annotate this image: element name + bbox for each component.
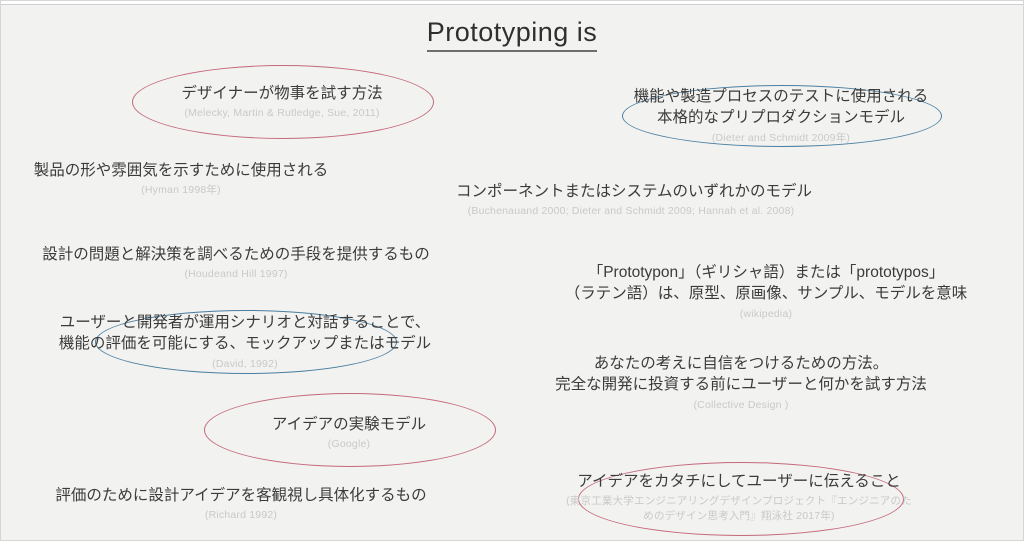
text-line: 本格的なプリプロダクションモデル [611,107,951,128]
text-block-design-problem-means: 設計の問題と解決策を調べるための手段を提供するもの (Houdeand Hill… [41,244,431,282]
text-line: アイデアをカタチにしてユーザーに伝えること [563,471,915,492]
text-block-prototypon-etymology: 「Prototypon」（ギリシャ語）または「prototypos」 （ラテン語… [541,262,991,321]
text-line: 製品の形や雰囲気を示すために使用される [26,160,336,181]
text-line: アイデアの実験モデル [204,414,494,435]
text-line: （ラテン語）は、原型、原画像、サンプル、モデルを意味 [541,283,991,304]
text-line: デザイナーが物事を試す方法 [132,83,432,104]
text-block-designer-method: デザイナーが物事を試す方法 (Melecky, Martin & Rutledg… [132,83,432,121]
text-block-confidence-method: あなたの考えに自信をつけるための方法。 完全な開発に投資する前にユーザーと何かを… [531,353,951,412]
text-block-mockup-or-model: ユーザーと開発者が運用シナリオと対話することで、 機能の評価を可能にする、モック… [50,312,440,371]
text-line: 機能や製造プロセスのテストに使用される [611,86,951,107]
citation: (東京工業大学エンジニアリングデザインプロジェクト『エンジニアのためのデザイン思… [563,494,915,522]
text-line: 完全な開発に投資する前にユーザーと何かを試す方法 [531,374,951,395]
text-line: 「Prototypon」（ギリシャ語）または「prototypos」 [541,262,991,283]
text-block-idea-experiment-model: アイデアの実験モデル (Google) [204,414,494,452]
text-block-shape-idea-tell-user: アイデアをカタチにしてユーザーに伝えること (東京工業大学エンジニアリングデザイ… [563,471,915,523]
text-line: 設計の問題と解決策を調べるための手段を提供するもの [41,244,431,265]
citation: (Melecky, Martin & Rutledge, Sue, 2011) [132,106,432,120]
text-line: 評価のために設計アイデアを客観視し具体化するもの [46,485,436,506]
citation: (Google) [204,437,494,451]
text-block-preproduction-model: 機能や製造プロセスのテストに使用される 本格的なプリプロダクションモデル (Di… [611,86,951,145]
citation: (Houdeand Hill 1997) [41,267,431,281]
text-line: 機能の評価を可能にする、モックアップまたはモデル [50,333,440,354]
citation: (Collective Design ) [531,398,951,412]
citation: (Buchenauand 2000; Dieter and Schmidt 20… [456,204,806,218]
page-title-text: Prototyping is [427,17,598,52]
page-title: Prototyping is [1,17,1023,52]
citation: (Richard 1992) [46,508,436,522]
text-block-form-atmosphere: 製品の形や雰囲気を示すために使用される (Hyman 1998年) [26,160,336,198]
citation: (David, 1992) [50,357,440,371]
citation: (Hyman 1998年) [26,183,336,197]
slide-canvas: Prototyping is デザイナーが物事を試す方法 (Melecky, M… [0,0,1024,541]
text-block-component-system-model: コンポーネントまたはシステムのいずれかのモデル (Buchenauand 200… [456,181,806,219]
citation: (Dieter and Schmidt 2009年) [611,131,951,145]
text-line: コンポーネントまたはシステムのいずれかのモデル [456,181,806,202]
text-line: ユーザーと開発者が運用シナリオと対話することで、 [50,312,440,333]
citation: (wikipedia) [541,307,991,321]
text-line: あなたの考えに自信をつけるための方法。 [531,353,951,374]
text-block-objectify-design-idea: 評価のために設計アイデアを客観視し具体化するもの (Richard 1992) [46,485,436,523]
